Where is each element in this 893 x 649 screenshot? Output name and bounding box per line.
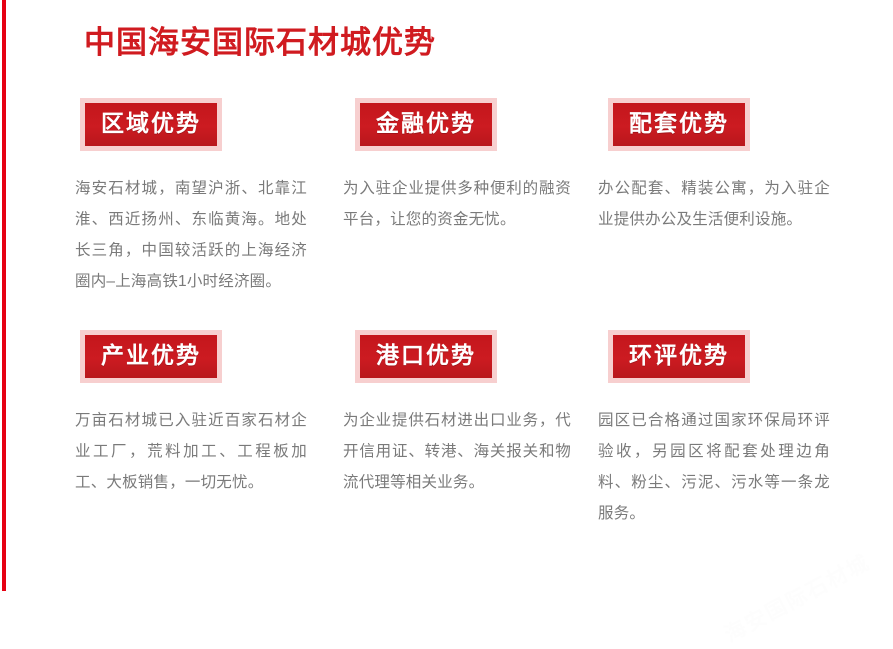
advantage-body-port: 为企业提供石材进出口业务，代开信用证、转港、海关报关和物流代理等相关业务。 xyxy=(343,405,571,498)
page-title: 中国海安国际石材城优势 xyxy=(84,23,436,63)
advantage-badge-industry: 产业优势 xyxy=(85,335,217,378)
badge-frame-finance: 金融优势 xyxy=(355,98,497,151)
advantage-badge-environment: 环评优势 xyxy=(613,335,745,378)
advantage-body-environment: 园区已合格通过国家环保局环评验收，另园区将配套处理边角料、粉尘、污泥、污水等一条… xyxy=(598,405,830,529)
advantage-card-region: 区域优势 海安石材城，南望沪浙、北靠江淮、西近扬州、东临黄海。地处长三角，中国较… xyxy=(75,98,325,313)
badge-frame-industry: 产业优势 xyxy=(80,330,222,383)
advantage-card-facilities: 配套优势 办公配套、精装公寓，为入驻企业提供办公及生活便利设施。 xyxy=(598,98,843,251)
advantage-card-port: 港口优势 为企业提供石材进出口业务，代开信用证、转港、海关报关和物流代理等相关业… xyxy=(343,330,583,514)
advantage-badge-facilities: 配套优势 xyxy=(613,103,745,146)
advantage-card-environment: 环评优势 园区已合格通过国家环保局环评验收，另园区将配套处理边角料、粉尘、污泥、… xyxy=(598,330,843,545)
badge-frame-region: 区域优势 xyxy=(80,98,222,151)
advantage-body-region: 海安石材城，南望沪浙、北靠江淮、西近扬州、东临黄海。地处长三角，中国较活跃的上海… xyxy=(75,173,307,297)
advantage-badge-port: 港口优势 xyxy=(360,335,492,378)
advantage-badge-region: 区域优势 xyxy=(85,103,217,146)
advantage-body-finance: 为入驻企业提供多种便利的融资平台，让您的资金无忧。 xyxy=(343,173,571,235)
advantage-body-industry: 万亩石材城已入驻近百家石材企业工厂，荒料加工、工程板加工、大板销售，一切无忧。 xyxy=(75,405,307,498)
badge-frame-environment: 环评优势 xyxy=(608,330,750,383)
advantage-card-finance: 金融优势 为入驻企业提供多种便利的融资平台，让您的资金无忧。 xyxy=(343,98,583,251)
advantage-body-facilities: 办公配套、精装公寓，为入驻企业提供办公及生活便利设施。 xyxy=(598,173,830,235)
badge-frame-facilities: 配套优势 xyxy=(608,98,750,151)
advantages-row-2: 产业优势 万亩石材城已入驻近百家石材企业工厂，荒料加工、工程板加工、大板销售，一… xyxy=(0,330,893,562)
advantages-grid: 区域优势 海安石材城，南望沪浙、北靠江淮、西近扬州、东临黄海。地处长三角，中国较… xyxy=(0,98,893,562)
badge-frame-port: 港口优势 xyxy=(355,330,497,383)
advantages-page: 中国海安国际石材城优势 区域优势 海安石材城，南望沪浙、北靠江淮、西近扬州、东临… xyxy=(0,0,893,591)
advantage-card-industry: 产业优势 万亩石材城已入驻近百家石材企业工厂，荒料加工、工程板加工、大板销售，一… xyxy=(75,330,325,514)
advantage-badge-finance: 金融优势 xyxy=(360,103,492,146)
advantages-row-1: 区域优势 海安石材城，南望沪浙、北靠江淮、西近扬州、东临黄海。地处长三角，中国较… xyxy=(0,98,893,330)
